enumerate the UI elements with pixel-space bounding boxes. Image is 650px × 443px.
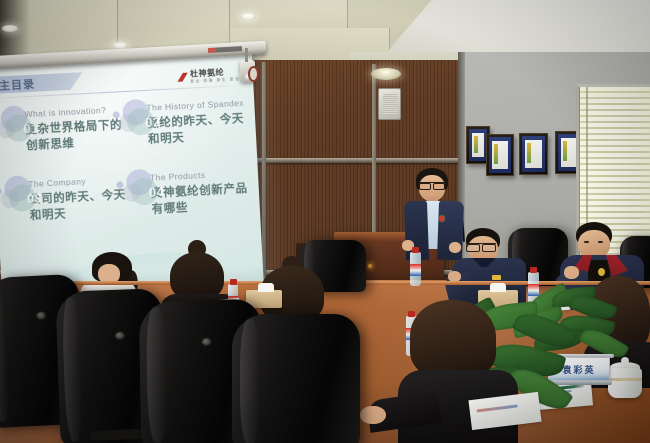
- ceiling-lamp-icon: [371, 68, 401, 80]
- framed-certificate: [486, 134, 514, 176]
- chair-knob: [115, 331, 125, 339]
- office-chair[interactable]: [232, 314, 360, 443]
- screen-hook-icon: [248, 66, 259, 82]
- conference-room-photo: 主目录 杜神氨纶 新 丝 · 新 路 · 新 生 · 新 态: [0, 0, 650, 443]
- hair: [410, 300, 496, 378]
- hand: [564, 266, 579, 279]
- eyeglasses-icon: [419, 182, 445, 188]
- agenda-cn-title: 公司的昨天、今天和明天: [29, 187, 129, 225]
- agenda-number: 03: [27, 190, 43, 206]
- agenda-cn-title: 复杂世界格局下的创新思维: [25, 117, 125, 155]
- projector-mount: [245, 48, 248, 62]
- agenda-item-02: 02 The History of Spandex 氨纶的昨天、今天和明天: [124, 98, 246, 150]
- hand: [360, 406, 386, 424]
- agenda-item-03: 03 The Company 公司的昨天、今天和明天: [6, 174, 128, 226]
- lapel-pin-icon: [440, 216, 444, 221]
- slide-title-banner: 主目录: [0, 72, 83, 94]
- framed-certificate: [519, 133, 548, 175]
- eyeglasses-icon: [466, 243, 496, 250]
- wall-speaker-icon: [378, 88, 401, 120]
- company-logo: 杜神氨纶 新 丝 · 新 路 · 新 生 · 新 态: [177, 66, 239, 86]
- logo-tagline: 新 丝 · 新 路 · 新 生 · 新 态: [190, 77, 239, 85]
- jacket-badge-icon: [598, 268, 605, 276]
- downlight-icon: [2, 25, 18, 32]
- agenda-cn-title: 奥神氨纶创新产品有哪些: [150, 180, 250, 218]
- logo-arrow-icon: [177, 72, 188, 82]
- agenda-item-04: 04 The Products 奥神氨纶创新产品有哪些: [128, 167, 250, 219]
- agenda-number: 02: [145, 114, 161, 130]
- agenda-number: 04: [148, 184, 164, 200]
- agenda-number: 01: [23, 121, 39, 137]
- downlight-icon: [240, 13, 256, 20]
- teacup-body: [608, 368, 642, 398]
- hair: [170, 252, 224, 300]
- teacup-gold-band: [608, 378, 642, 381]
- chair-knob: [201, 338, 211, 346]
- water-bottle[interactable]: [410, 252, 421, 286]
- jacket-badge-icon: [492, 275, 501, 280]
- screen-brand-logo: [208, 46, 242, 53]
- slide-agenda-grid: 01 What is innovation? 复杂世界格局下的创新思维 02 T…: [2, 98, 250, 226]
- agenda-cn-title: 氨纶的昨天、今天和明天: [147, 111, 247, 149]
- podium-indicator-light: [368, 264, 372, 268]
- chair-knob: [36, 311, 46, 320]
- eye: [584, 241, 589, 243]
- eye: [598, 241, 603, 243]
- agenda-item-01: 01 What is innovation? 复杂世界格局下的创新思维: [2, 104, 124, 156]
- slide-title: 主目录: [0, 76, 35, 94]
